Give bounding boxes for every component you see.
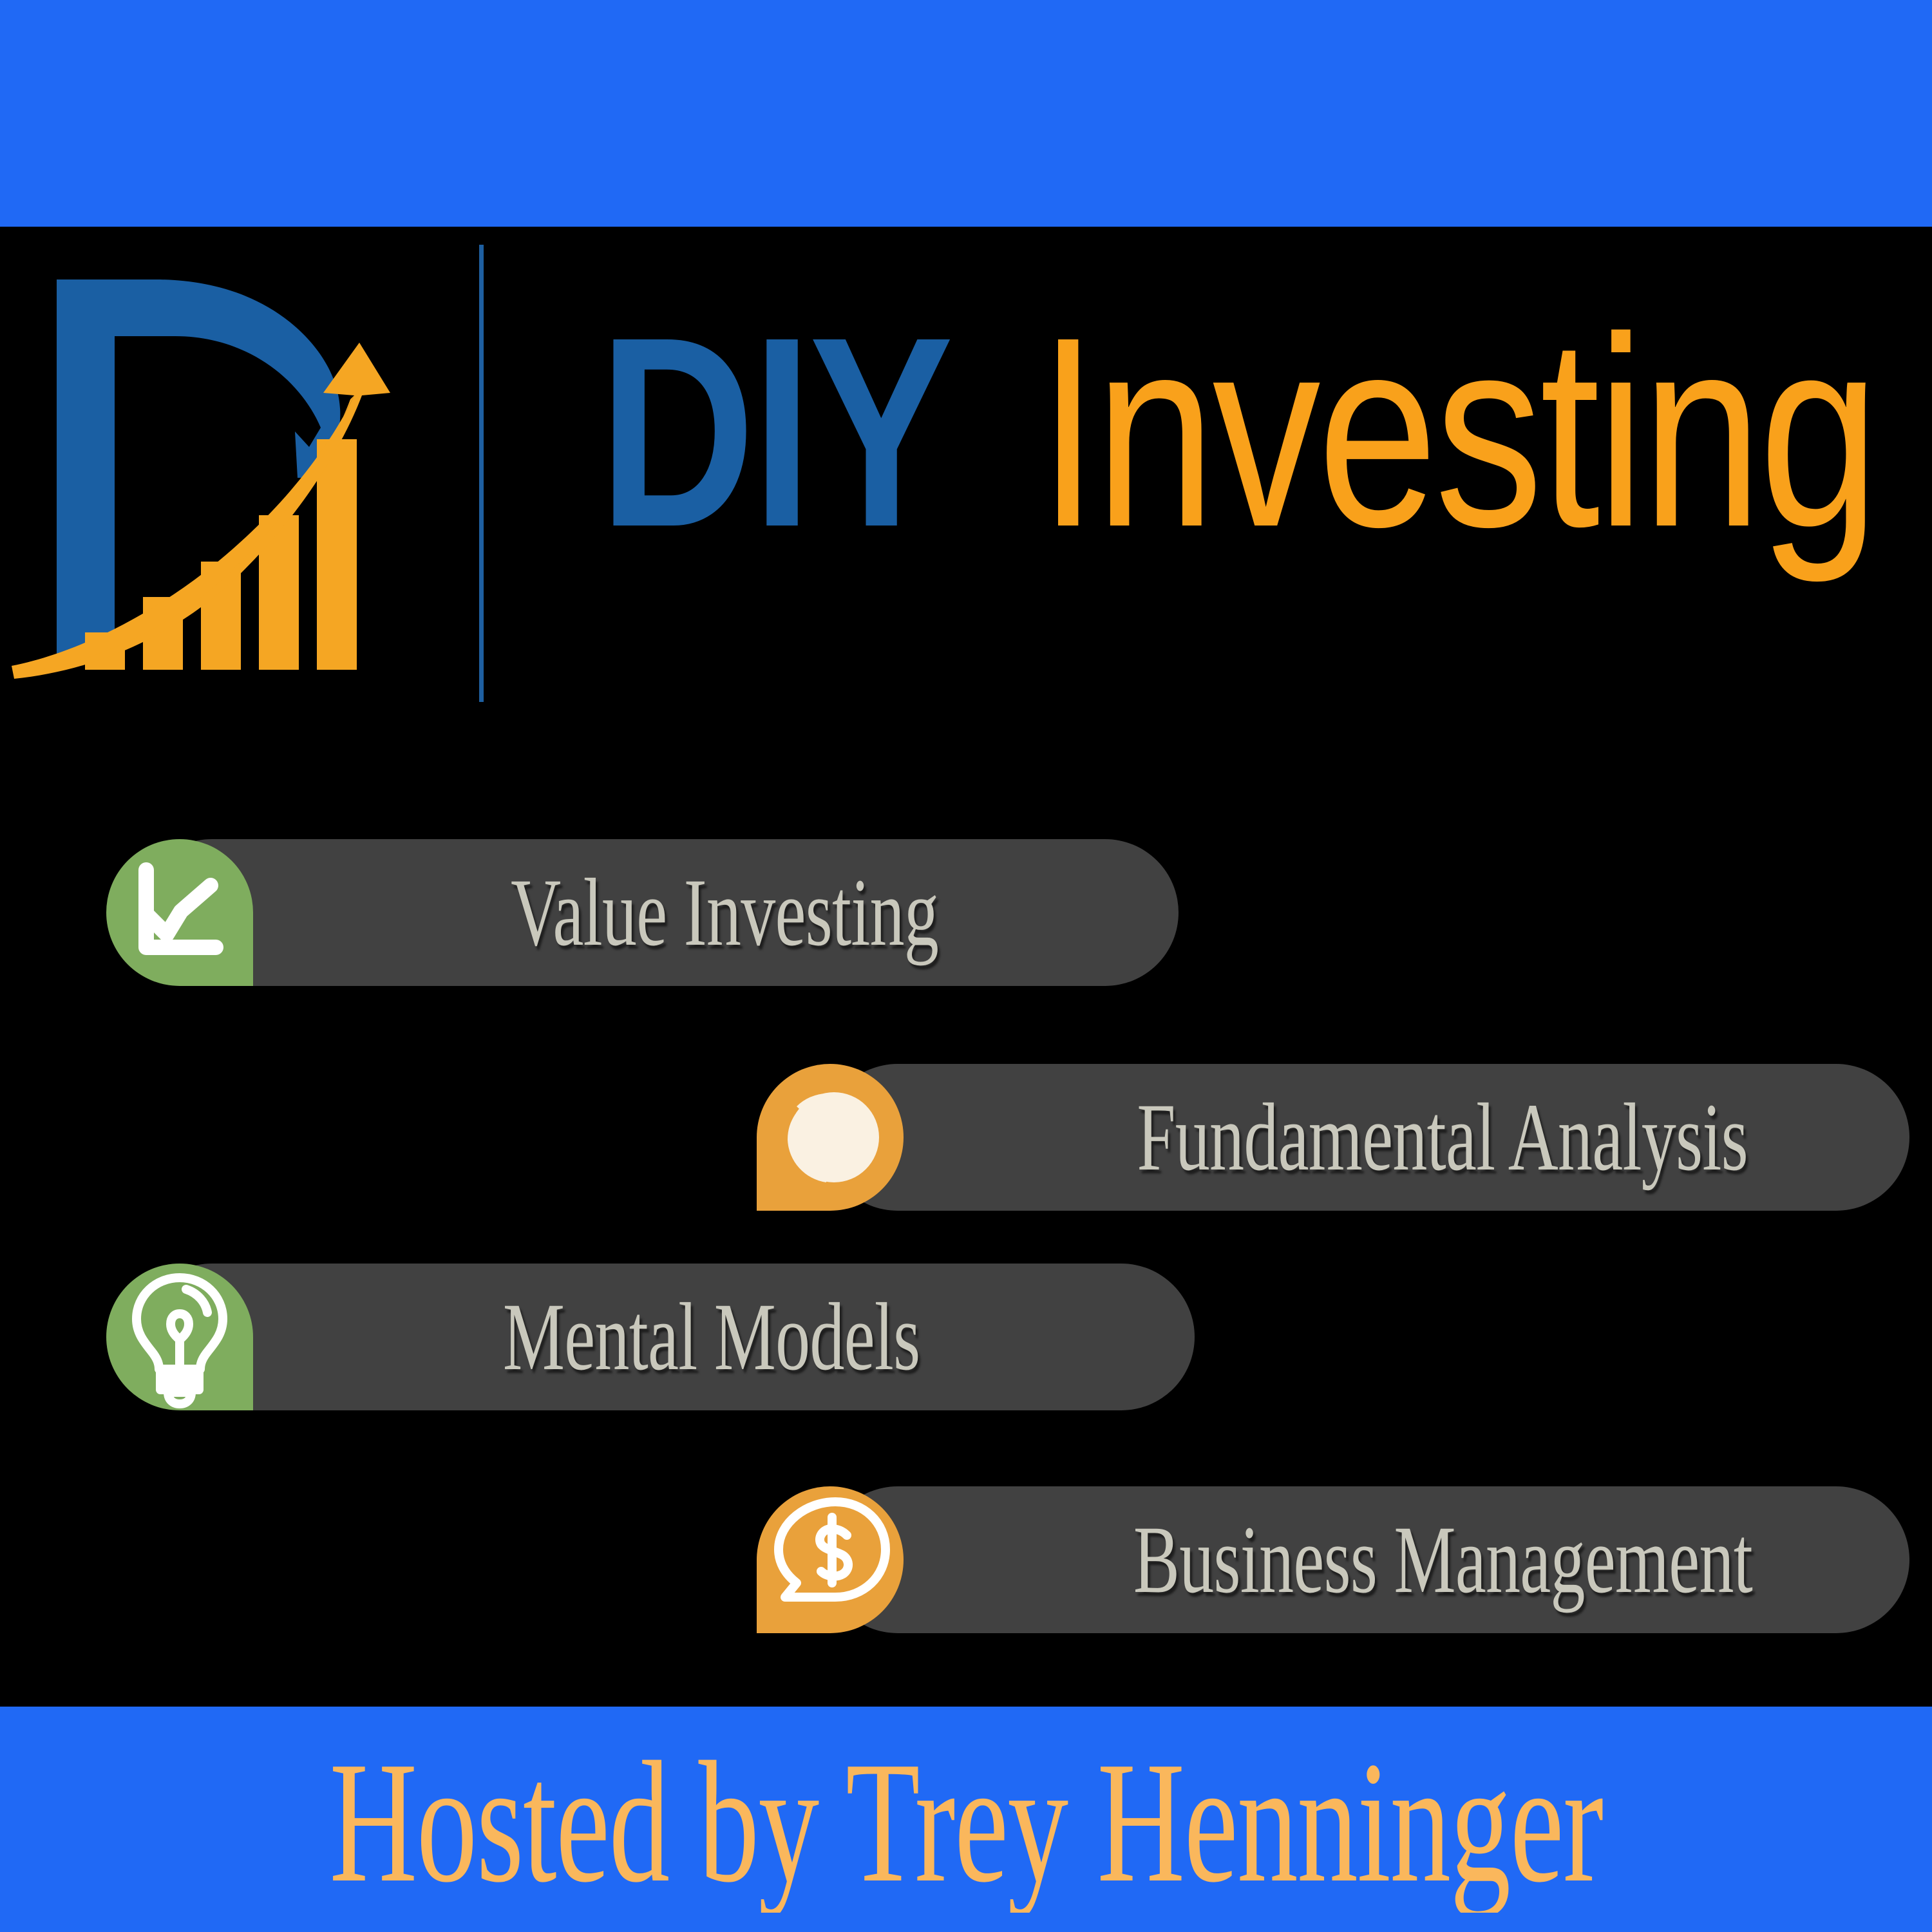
host-credit-text: Hosted by Trey Henninger bbox=[329, 1736, 1602, 1909]
diy-investing-growth-logo-icon bbox=[6, 246, 431, 710]
pie-chart-icon bbox=[757, 1064, 904, 1211]
brand-header: DIYInvesting bbox=[0, 227, 1932, 735]
brand-name-secondary: Investing bbox=[1038, 298, 1877, 568]
podcast-cover-art: DIYInvesting Value Investing bbox=[0, 0, 1932, 1932]
dollar-speech-bubble-icon bbox=[757, 1486, 904, 1633]
lightbulb-icon bbox=[106, 1264, 253, 1410]
topic-label: Business Management bbox=[1133, 1504, 1752, 1615]
brand-name-primary: DIY bbox=[599, 298, 951, 568]
topic-pill-business-management[interactable]: Business Management bbox=[757, 1486, 1929, 1641]
topic-label-wrap: Fundamental Analysis bbox=[1014, 1064, 1871, 1211]
line-chart-icon bbox=[106, 839, 253, 986]
topic-pill-value-investing[interactable]: Value Investing bbox=[106, 839, 1201, 994]
top-blue-band bbox=[0, 0, 1932, 227]
topic-pill-mental-models[interactable]: Mental Models bbox=[106, 1264, 1214, 1418]
topic-label-wrap: Value Investing bbox=[299, 839, 1150, 986]
topic-label: Value Investing bbox=[511, 857, 938, 968]
logo-divider bbox=[479, 245, 484, 702]
brand-wordmark: DIYInvesting bbox=[599, 298, 1926, 658]
topic-pill-fundamental-analysis[interactable]: Fundamental Analysis bbox=[757, 1064, 1929, 1218]
topic-label: Fundamental Analysis bbox=[1137, 1082, 1748, 1193]
host-credit: Hosted by Trey Henninger bbox=[0, 1732, 1932, 1913]
topic-label: Mental Models bbox=[503, 1282, 920, 1392]
topic-label-wrap: Mental Models bbox=[293, 1264, 1130, 1410]
topic-label-wrap: Business Management bbox=[1014, 1486, 1871, 1633]
